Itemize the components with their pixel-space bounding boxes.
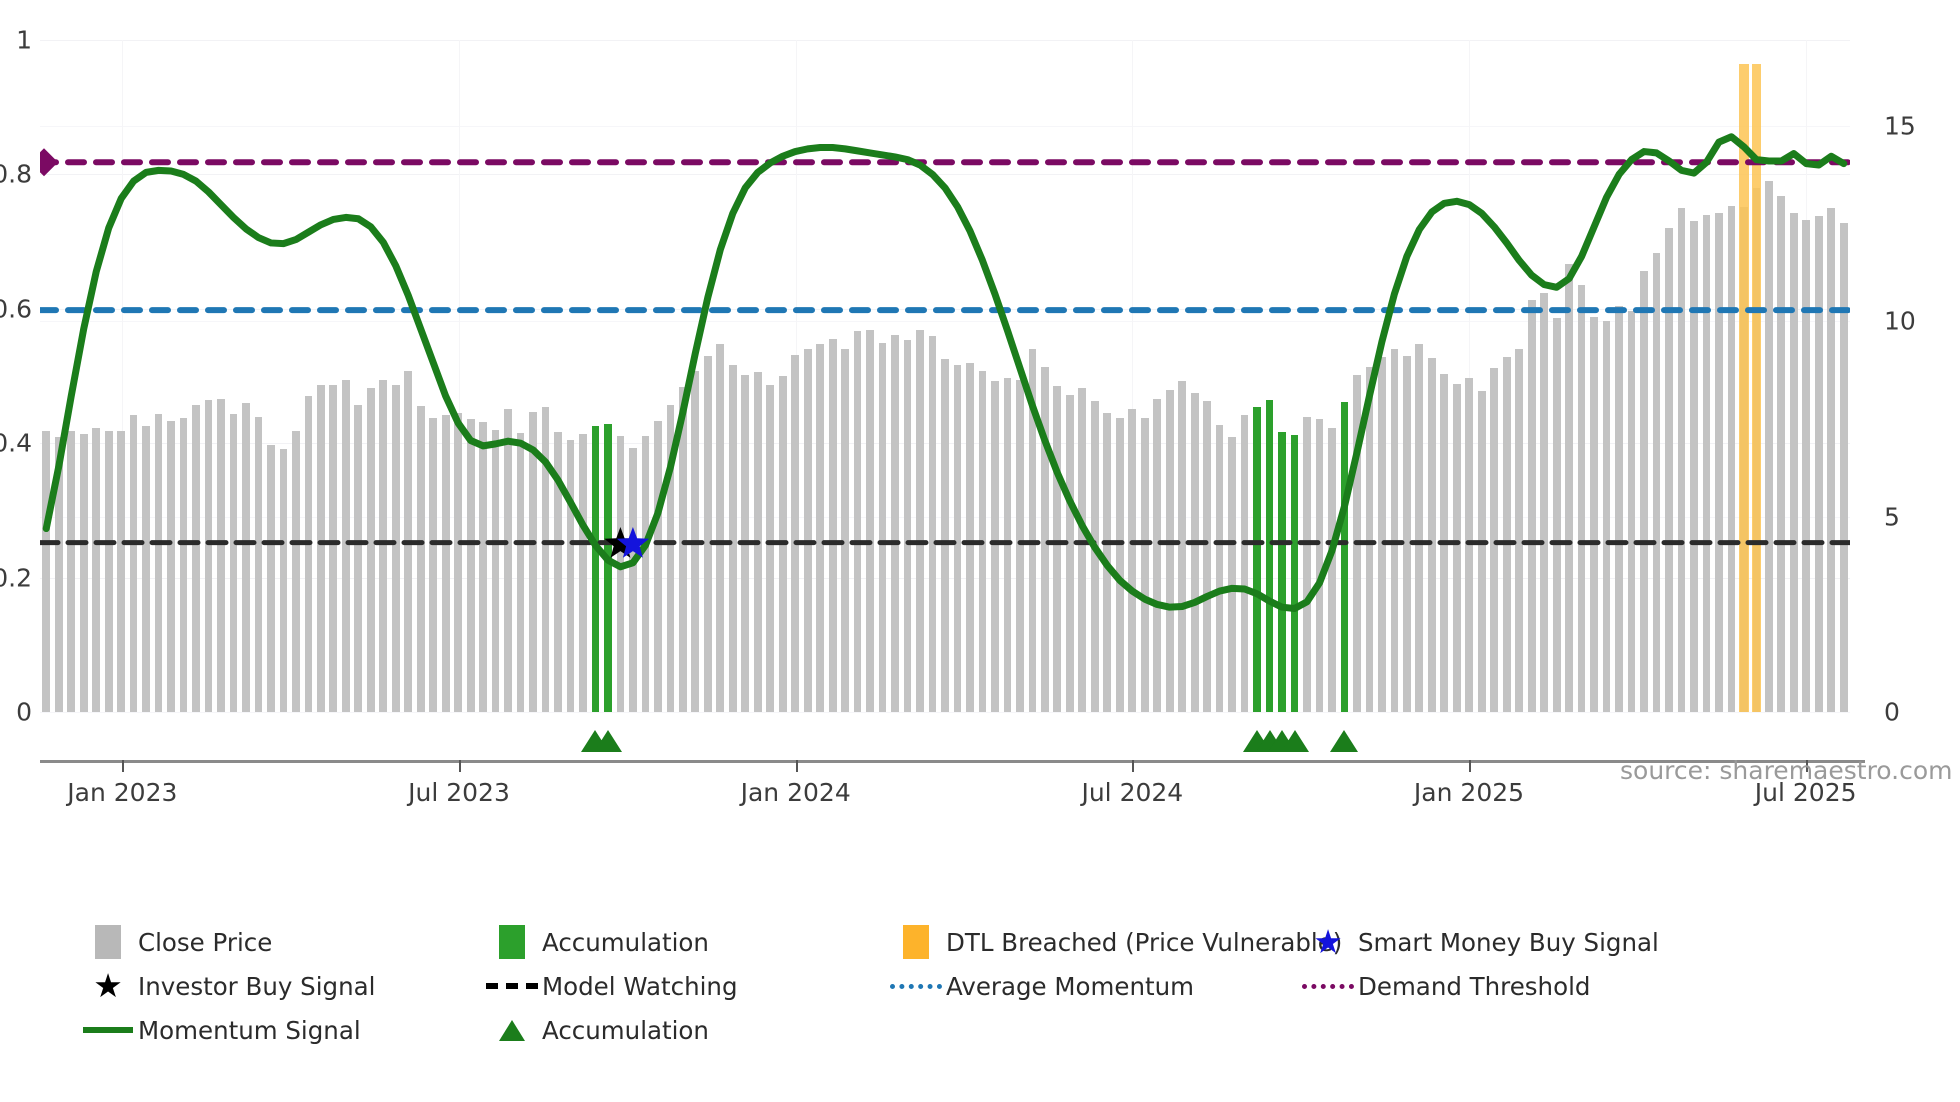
source-attribution: source: sharemaestro.com (1620, 756, 1953, 785)
orange-square-icon (886, 925, 946, 959)
plot-area (40, 40, 1850, 712)
legend-swatch (83, 1027, 133, 1033)
y-axis-left-tick-label: 0.2 (0, 563, 32, 592)
accumulation-triangle-icon (1330, 730, 1358, 752)
momentum-signal-line (46, 137, 1844, 609)
legend-label: Close Price (138, 928, 272, 957)
x-axis-tick (1469, 760, 1471, 772)
legend-label: Model Watching (542, 972, 738, 1001)
legend-item[interactable]: Demand Threshold (1298, 969, 1698, 1003)
grey-square-icon (78, 925, 138, 959)
legend-label: Accumulation (542, 1016, 709, 1045)
legend-swatch: ★ (1313, 928, 1343, 956)
green-square-icon (482, 925, 542, 959)
legend-label: Demand Threshold (1358, 972, 1590, 1001)
x-axis-tick-label: Jan 2025 (1414, 778, 1524, 807)
legend-label: Investor Buy Signal (138, 972, 375, 1001)
black-dashed-line-icon (482, 969, 542, 1003)
legend-item[interactable]: ★Smart Money Buy Signal (1298, 925, 1698, 959)
legend-label: Momentum Signal (138, 1016, 361, 1045)
y-axis-left-tick-label: 0 (16, 698, 32, 727)
black-star-icon: ★ (78, 969, 138, 1003)
gridline-horizontal-right (40, 712, 1850, 713)
legend-swatch (486, 983, 538, 989)
legend-item[interactable]: Accumulation (482, 1013, 886, 1047)
chart-canvas: Jan 2023Jul 2023Jan 2024Jul 2024Jan 2025… (0, 0, 1960, 1102)
y-axis-right-tick-label: 15 (1884, 111, 1916, 140)
accumulation-triangle-icon (1281, 730, 1309, 752)
legend-swatch: ★ (93, 972, 123, 1000)
legend-swatch (890, 984, 942, 989)
legend-swatch (499, 1020, 525, 1041)
y-axis-left-tick-label: 0.8 (0, 160, 32, 189)
x-axis-tick (459, 760, 461, 772)
legend-label: Smart Money Buy Signal (1358, 928, 1659, 957)
legend-swatch (499, 925, 525, 959)
y-axis-right-tick-label: 5 (1884, 502, 1900, 531)
legend-item[interactable]: Accumulation (482, 925, 886, 959)
legend-row: ★Investor Buy SignalModel WatchingAverag… (78, 969, 1908, 1003)
y-axis-left-tick-label: 0.4 (0, 429, 32, 458)
legend-item[interactable]: Average Momentum (886, 969, 1298, 1003)
x-axis-tick (1132, 760, 1134, 772)
x-axis-tick-label: Jan 2023 (67, 778, 177, 807)
blue-star-icon: ★ (1298, 925, 1358, 959)
legend-item[interactable]: ★Investor Buy Signal (78, 969, 482, 1003)
x-axis: Jan 2023Jul 2023Jan 2024Jul 2024Jan 2025… (40, 760, 1865, 763)
x-axis-tick-label: Jul 2023 (408, 778, 510, 807)
y-axis-right-tick-label: 10 (1884, 307, 1916, 336)
y-axis-left-tick-label: 1 (16, 26, 32, 55)
legend-swatch (95, 925, 121, 959)
legend-row: Close PriceAccumulationDTL Breached (Pri… (78, 925, 1908, 959)
blue-dotted-line-icon (886, 969, 946, 1003)
legend-row: Momentum SignalAccumulation (78, 1013, 1908, 1047)
legend-swatch (903, 925, 929, 959)
series-overlay (40, 40, 1850, 712)
green-line-icon (78, 1013, 138, 1047)
chart-legend: Close PriceAccumulationDTL Breached (Pri… (78, 925, 1908, 1057)
green-triangle-icon (482, 1013, 542, 1047)
legend-label: DTL Breached (Price Vulnerable) (946, 928, 1342, 957)
x-axis-tick-label: Jan 2024 (741, 778, 851, 807)
legend-label: Accumulation (542, 928, 709, 957)
x-axis-tick-label: Jul 2024 (1081, 778, 1183, 807)
y-axis-right-tick-label: 0 (1884, 698, 1900, 727)
x-axis-tick (796, 760, 798, 772)
legend-item[interactable]: DTL Breached (Price Vulnerable) (886, 925, 1298, 959)
legend-item[interactable]: Model Watching (482, 969, 886, 1003)
legend-label: Average Momentum (946, 972, 1194, 1001)
legend-swatch (1302, 984, 1354, 989)
demand-threshold-start-diamond-icon (40, 148, 58, 176)
y-axis-left-tick-label: 0.6 (0, 294, 32, 323)
purple-dotted-line-icon (1298, 969, 1358, 1003)
x-axis-tick (122, 760, 124, 772)
accumulation-triangle-icon (594, 730, 622, 752)
legend-item[interactable]: Close Price (78, 925, 482, 959)
legend-item[interactable]: Momentum Signal (78, 1013, 482, 1047)
